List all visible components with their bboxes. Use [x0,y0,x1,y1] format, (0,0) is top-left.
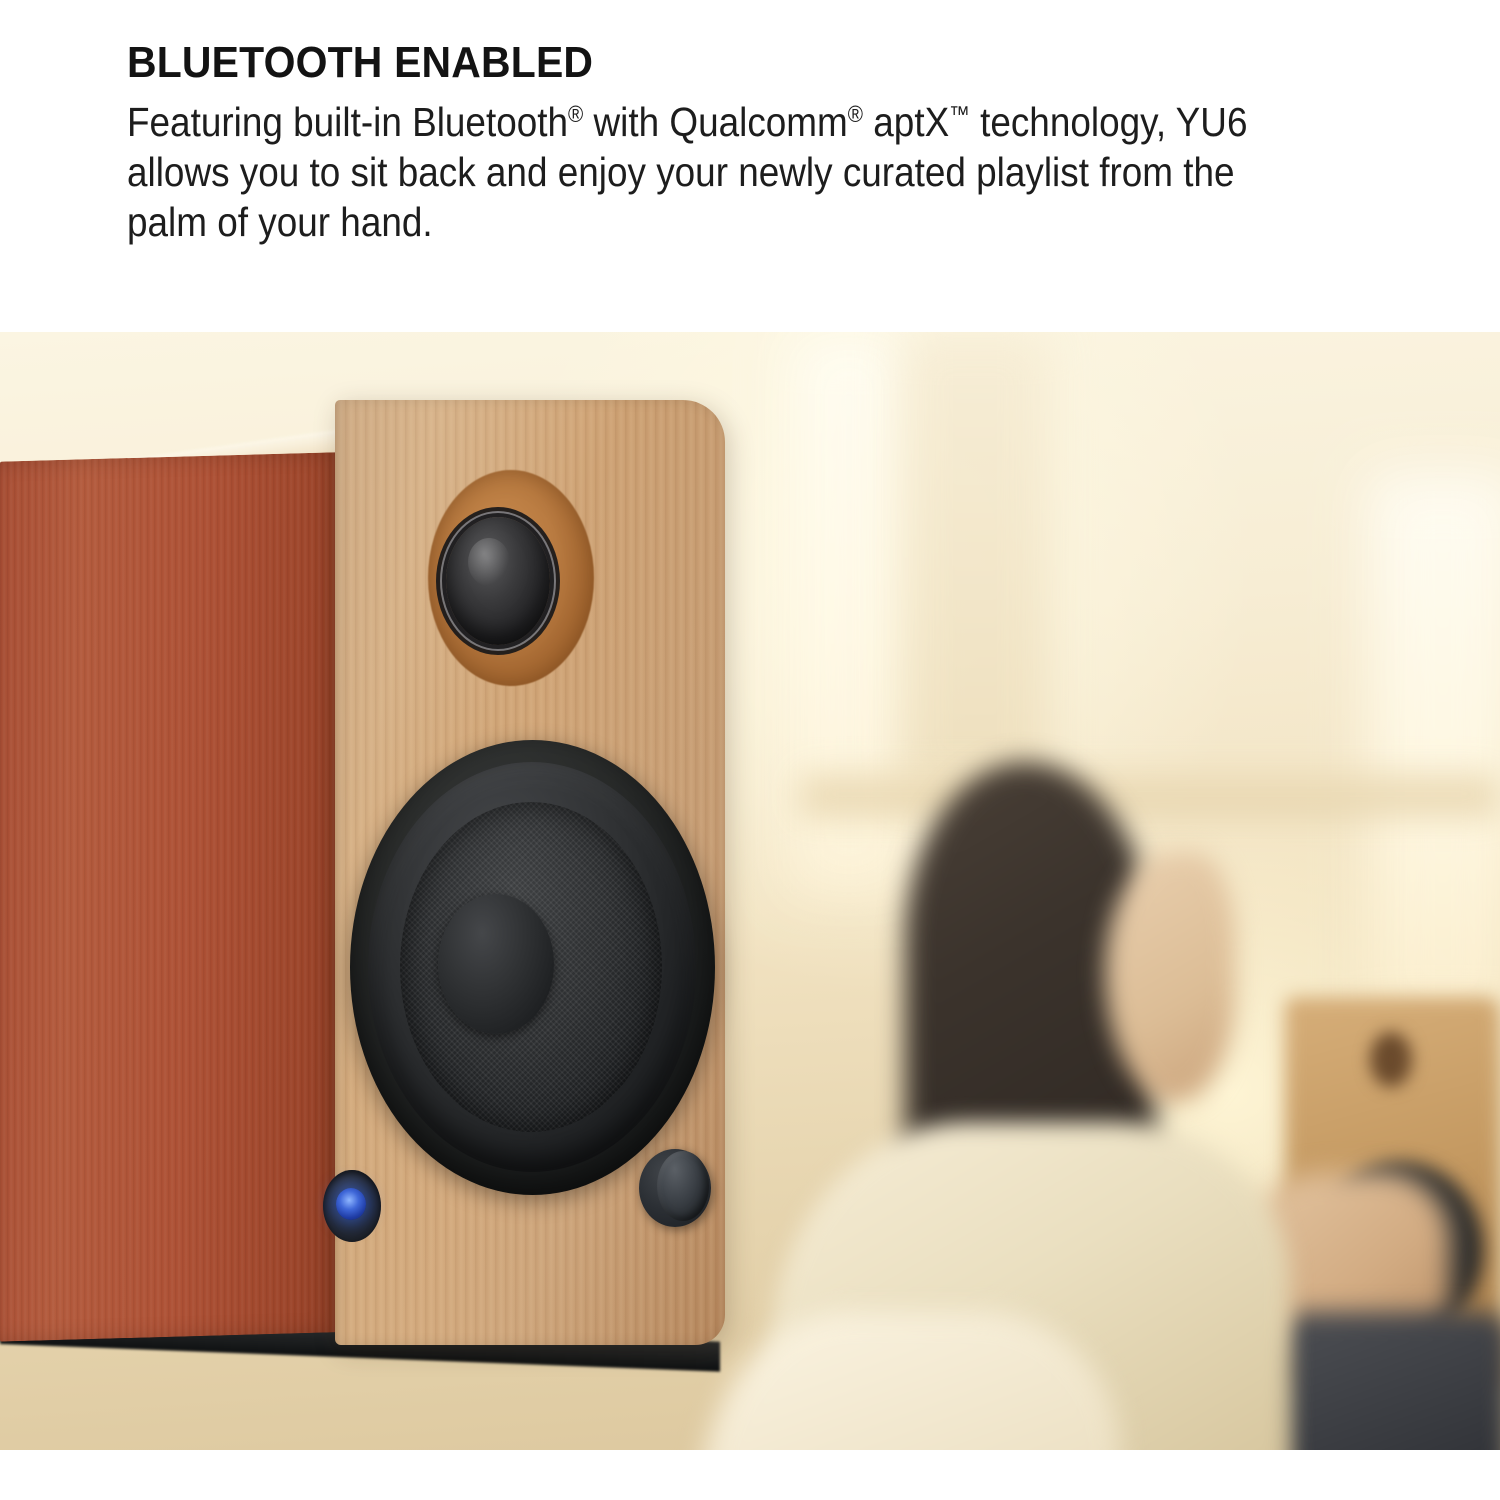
description-line-1-part-c: aptX [863,99,949,145]
footer-whitespace [0,1450,1500,1500]
description-line-1-part-b: with Qualcomm [583,99,848,145]
bluetooth-status-led [336,1188,366,1220]
tweeter-highlight [468,538,510,586]
trademark-mark-aptx: ™ [949,101,970,127]
volume-knob[interactable] [657,1151,709,1221]
registered-mark-qualcomm: ® [848,101,863,127]
window-mullion [800,772,1500,816]
foreground-speaker [0,362,790,1372]
wall-pillar [900,332,1050,792]
handheld-device [1280,1312,1500,1450]
description-line-1-part-a: Featuring built-in Bluetooth [127,99,568,145]
woofer-dust-cap [438,894,554,1034]
registered-mark-bluetooth: ® [568,101,583,127]
description-line-1-part-d: technology, [970,99,1166,145]
page-description: Featuring built-in Bluetooth® with Qualc… [127,97,1288,247]
product-lifestyle-photo: Qualcomm® aptX™ ® [0,332,1500,1450]
page-title: BLUETOOTH ENABLED [127,38,593,88]
background-speaker-tweeter [1370,1032,1412,1087]
window-light-right [1368,472,1500,1032]
cabinet-side-panel [0,452,345,1342]
header-text-block: BLUETOOTH ENABLED Featuring built-in Blu… [0,0,1500,332]
